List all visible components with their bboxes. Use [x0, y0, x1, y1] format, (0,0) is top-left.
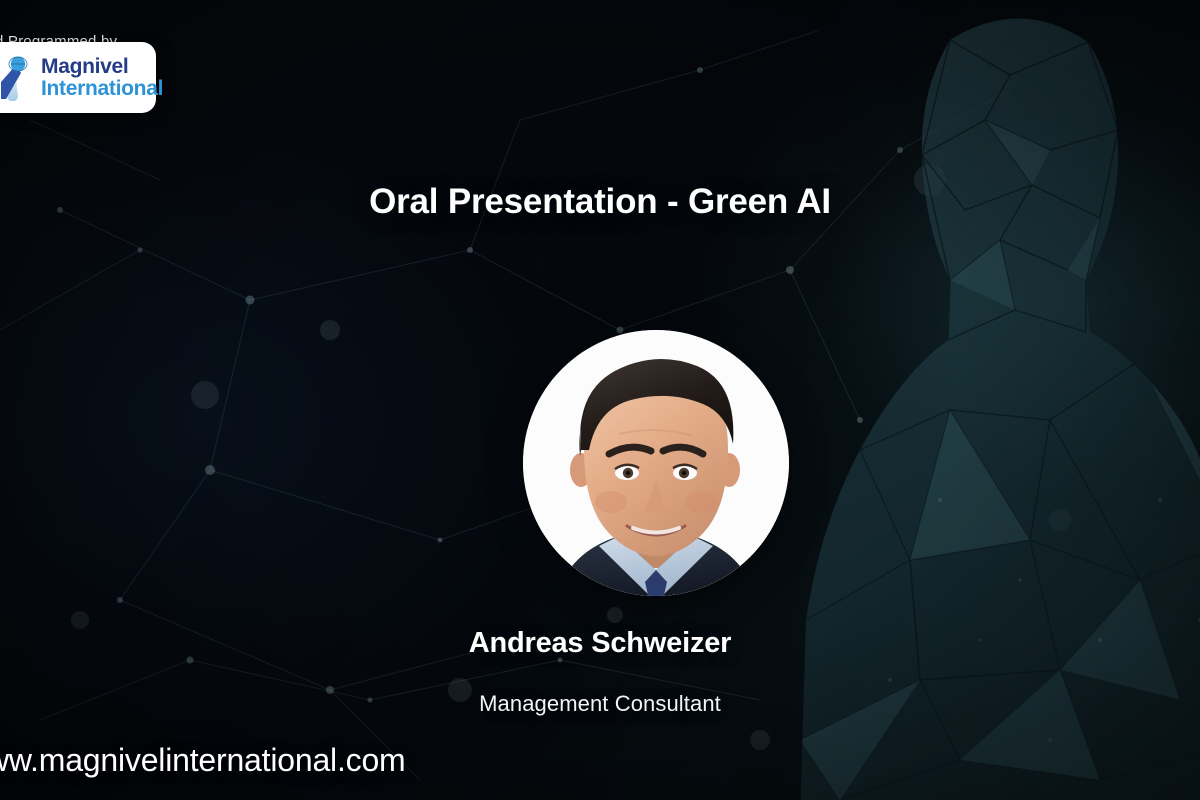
logo-line-international: International [41, 78, 163, 99]
presentation-slide: d and Programmed by Magnivel Internation… [0, 0, 1200, 800]
speaker-role: Management Consultant [0, 691, 1200, 717]
low-poly-human-figure-graphic [800, 0, 1200, 800]
speaker-portrait-avatar [523, 330, 789, 596]
logo-wordmark: Magnivel International [41, 56, 163, 99]
website-url[interactable]: ww.magnivelinternational.com [0, 742, 406, 779]
slide-title: Oral Presentation - Green AI [0, 182, 1200, 222]
portrait-photo [523, 330, 789, 596]
magnivel-international-logo[interactable]: Magnivel International [0, 42, 156, 113]
magnivel-globe-figure-icon [0, 55, 34, 101]
logo-line-magnivel: Magnivel [41, 56, 163, 77]
speaker-name: Andreas Schweizer [0, 627, 1200, 660]
